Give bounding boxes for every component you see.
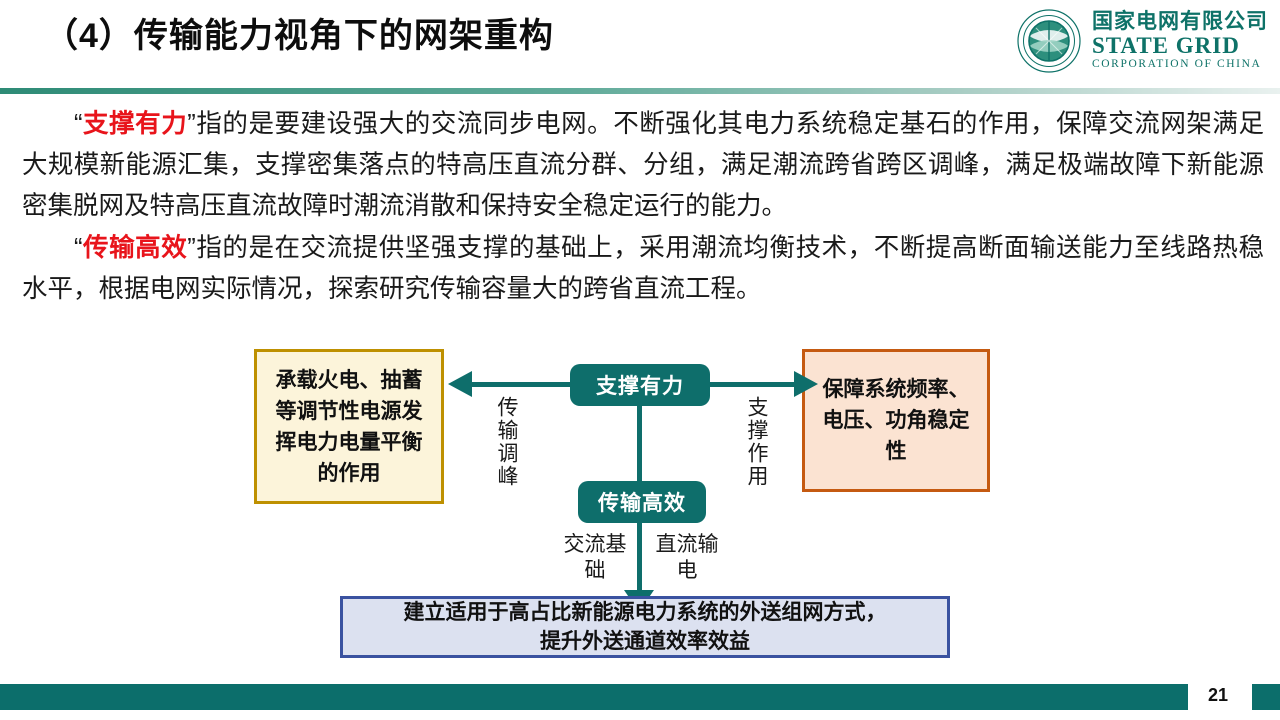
paragraph-2: “传输高效”指的是在交流提供坚强支撑的基础上，采用潮流均衡技术，不断提高断面输送… bbox=[22, 228, 1264, 310]
diagram-label-transmission-peaking: 传输调峰 bbox=[492, 396, 521, 488]
body-copy: “支撑有力”指的是要建设强大的交流同步电网。不断强化其电力系统稳定基石的作用，保… bbox=[22, 104, 1264, 310]
connector-line-right bbox=[708, 382, 796, 387]
state-grid-logo: 国家电网有限公司 STATE GRID CORPORATION OF CHINA bbox=[1016, 4, 1268, 78]
logo-english-subtitle: CORPORATION OF CHINA bbox=[1092, 57, 1268, 72]
bottom-box-line-2: 提升外送通道效率效益 bbox=[404, 627, 887, 656]
diagram-node-efficient: 传输高效 bbox=[578, 481, 706, 523]
diagram-label-dc-transmission: 直流输电 bbox=[652, 532, 722, 584]
paragraph-1-highlight: 支撑有力 bbox=[83, 110, 188, 138]
slide-footer: 21 bbox=[0, 684, 1280, 720]
slide-header: （4）传输能力视角下的网架重构 国家电网有限公司 STATE GRID CORP… bbox=[0, 0, 1280, 92]
quote-open: “ bbox=[74, 234, 83, 262]
diagram-bottom-box: 建立适用于高占比新能源电力系统的外送组网方式， 提升外送通道效率效益 bbox=[340, 596, 950, 658]
quote-close: ” bbox=[187, 110, 196, 138]
connector-line-down bbox=[637, 523, 642, 592]
state-grid-globe-icon bbox=[1016, 8, 1082, 74]
arrow-right-icon bbox=[794, 371, 818, 397]
paragraph-2-text: 指的是在交流提供坚强支撑的基础上，采用潮流均衡技术，不断提高断面输送能力至线路热… bbox=[22, 234, 1264, 303]
diagram-label-ac-basis: 交流基础 bbox=[560, 532, 630, 584]
paragraph-1-text: 指的是要建设强大的交流同步电网。不断强化其电力系统稳定基石的作用，保障交流网架满… bbox=[22, 110, 1264, 220]
diagram-label-support-role: 支撑作用 bbox=[742, 396, 771, 488]
logo-wordmark: 国家电网有限公司 STATE GRID CORPORATION OF CHINA bbox=[1092, 10, 1268, 72]
arrow-left-icon bbox=[448, 371, 472, 397]
page-number: 21 bbox=[1200, 685, 1236, 706]
connector-line-middle bbox=[637, 406, 642, 481]
diagram-left-box: 承载火电、抽蓄等调节性电源发挥电力电量平衡的作用 bbox=[254, 349, 444, 504]
header-divider bbox=[0, 88, 1280, 94]
diagram-node-support: 支撑有力 bbox=[570, 364, 710, 406]
diagram-right-box: 保障系统频率、电压、功角稳定性 bbox=[802, 349, 990, 492]
quote-close: ” bbox=[187, 234, 196, 262]
quote-open: “ bbox=[74, 110, 83, 138]
logo-chinese-name: 国家电网有限公司 bbox=[1092, 10, 1268, 34]
logo-english-name: STATE GRID bbox=[1092, 34, 1268, 57]
connector-line-left bbox=[470, 382, 572, 387]
page-title: （4）传输能力视角下的网架重构 bbox=[44, 8, 554, 57]
footer-bar-end-cap bbox=[1252, 684, 1280, 710]
paragraph-2-highlight: 传输高效 bbox=[83, 234, 188, 262]
paragraph-1: “支撑有力”指的是要建设强大的交流同步电网。不断强化其电力系统稳定基石的作用，保… bbox=[22, 104, 1264, 227]
footer-bar bbox=[0, 684, 1188, 710]
bottom-box-line-1: 建立适用于高占比新能源电力系统的外送组网方式， bbox=[404, 598, 887, 627]
concept-diagram: 承载火电、抽蓄等调节性电源发挥电力电量平衡的作用 保障系统频率、电压、功角稳定性… bbox=[0, 340, 1280, 670]
